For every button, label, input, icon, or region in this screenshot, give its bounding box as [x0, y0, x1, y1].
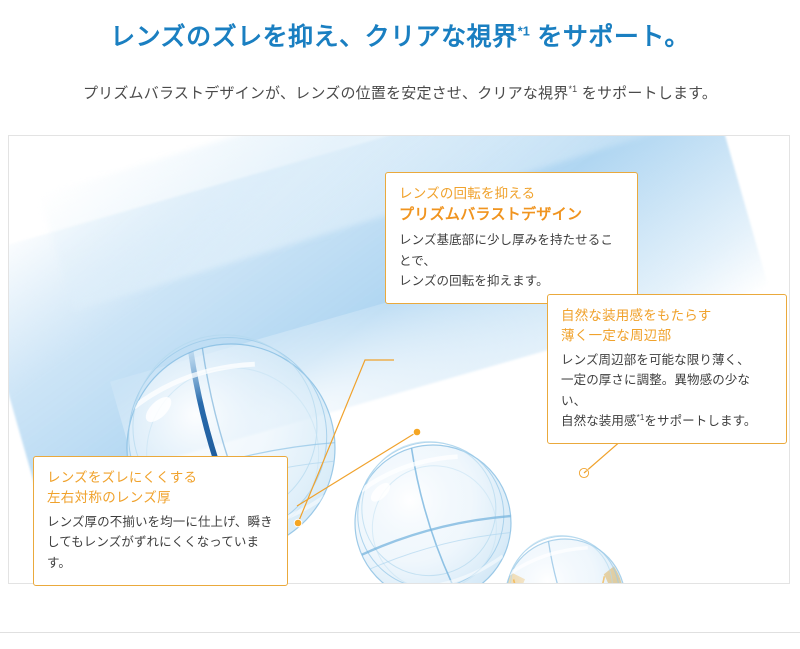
page-title-text: レンズのズレを抑え、クリアな視界	[110, 23, 518, 51]
page-title-tail: をサポート。	[530, 23, 690, 51]
callout-edge-title: 薄く一定な周辺部	[561, 326, 773, 346]
callout-prism-ballast-design: レンズの回転を抑える プリズムバラストデザイン レンズ基底部に少し厚みを持たせる…	[385, 172, 638, 304]
callout-symmetric-lens-thickness: レンズをズレにくくする 左右対称のレンズ厚 レンズ厚の不揃いを均一に仕上げ、瞬き…	[33, 456, 288, 586]
lens-shape-small-amber	[490, 521, 640, 584]
callout-thickness-body-line2: してもレンズがずれにくくなっています。	[47, 532, 274, 573]
callout-prism-body-line1: レンズ基底部に少し厚みを持たせることで、	[399, 230, 624, 271]
callout-prism-eyebrow: レンズの回転を抑える	[399, 184, 624, 204]
callout-edge-body-line3-post: をサポートします。	[644, 414, 756, 428]
page-subtitle: プリズムバラストデザインが、レンズの位置を安定させ、クリアな視界*1 をサポート…	[0, 53, 800, 104]
callout-edge-body-line2: 一定の厚さに調整。異物感の少ない、	[561, 370, 773, 411]
page-subtitle-tail: をサポートします。	[577, 85, 717, 102]
callout-prism-title: プリズムバラストデザイン	[399, 204, 624, 226]
callout-thickness-eyebrow: レンズをズレにくくする	[47, 468, 274, 488]
bottom-divider	[0, 632, 800, 633]
callout-thickness-body-line1: レンズ厚の不揃いを均一に仕上げ、瞬き	[47, 512, 274, 532]
callout-edge-body-line1: レンズ周辺部を可能な限り薄く、	[561, 350, 773, 370]
callout-edge-eyebrow: 自然な装用感をもたらす	[561, 306, 773, 326]
callout-prism-body-line2: レンズの回転を抑えます。	[399, 271, 624, 291]
callout-edge-body-line3: 自然な装用感*1をサポートします。	[561, 411, 773, 431]
lens-shape-medium	[335, 423, 529, 584]
callout-edge-body-line3-pre: 自然な装用感	[561, 414, 637, 428]
page-subtitle-text: プリズムバラストデザインが、レンズの位置を安定させ、クリアな視界	[83, 85, 569, 102]
page-title: レンズのズレを抑え、クリアな視界*1 をサポート。	[0, 22, 800, 53]
page-header: レンズのズレを抑え、クリアな視界*1 をサポート。 プリズムバラストデザインが、…	[0, 0, 800, 104]
callout-thin-uniform-periphery: 自然な装用感をもたらす 薄く一定な周辺部 レンズ周辺部を可能な限り薄く、 一定の…	[547, 294, 787, 444]
callout-thickness-title: 左右対称のレンズ厚	[47, 488, 274, 508]
page-title-footnote-marker: *1	[518, 24, 530, 39]
